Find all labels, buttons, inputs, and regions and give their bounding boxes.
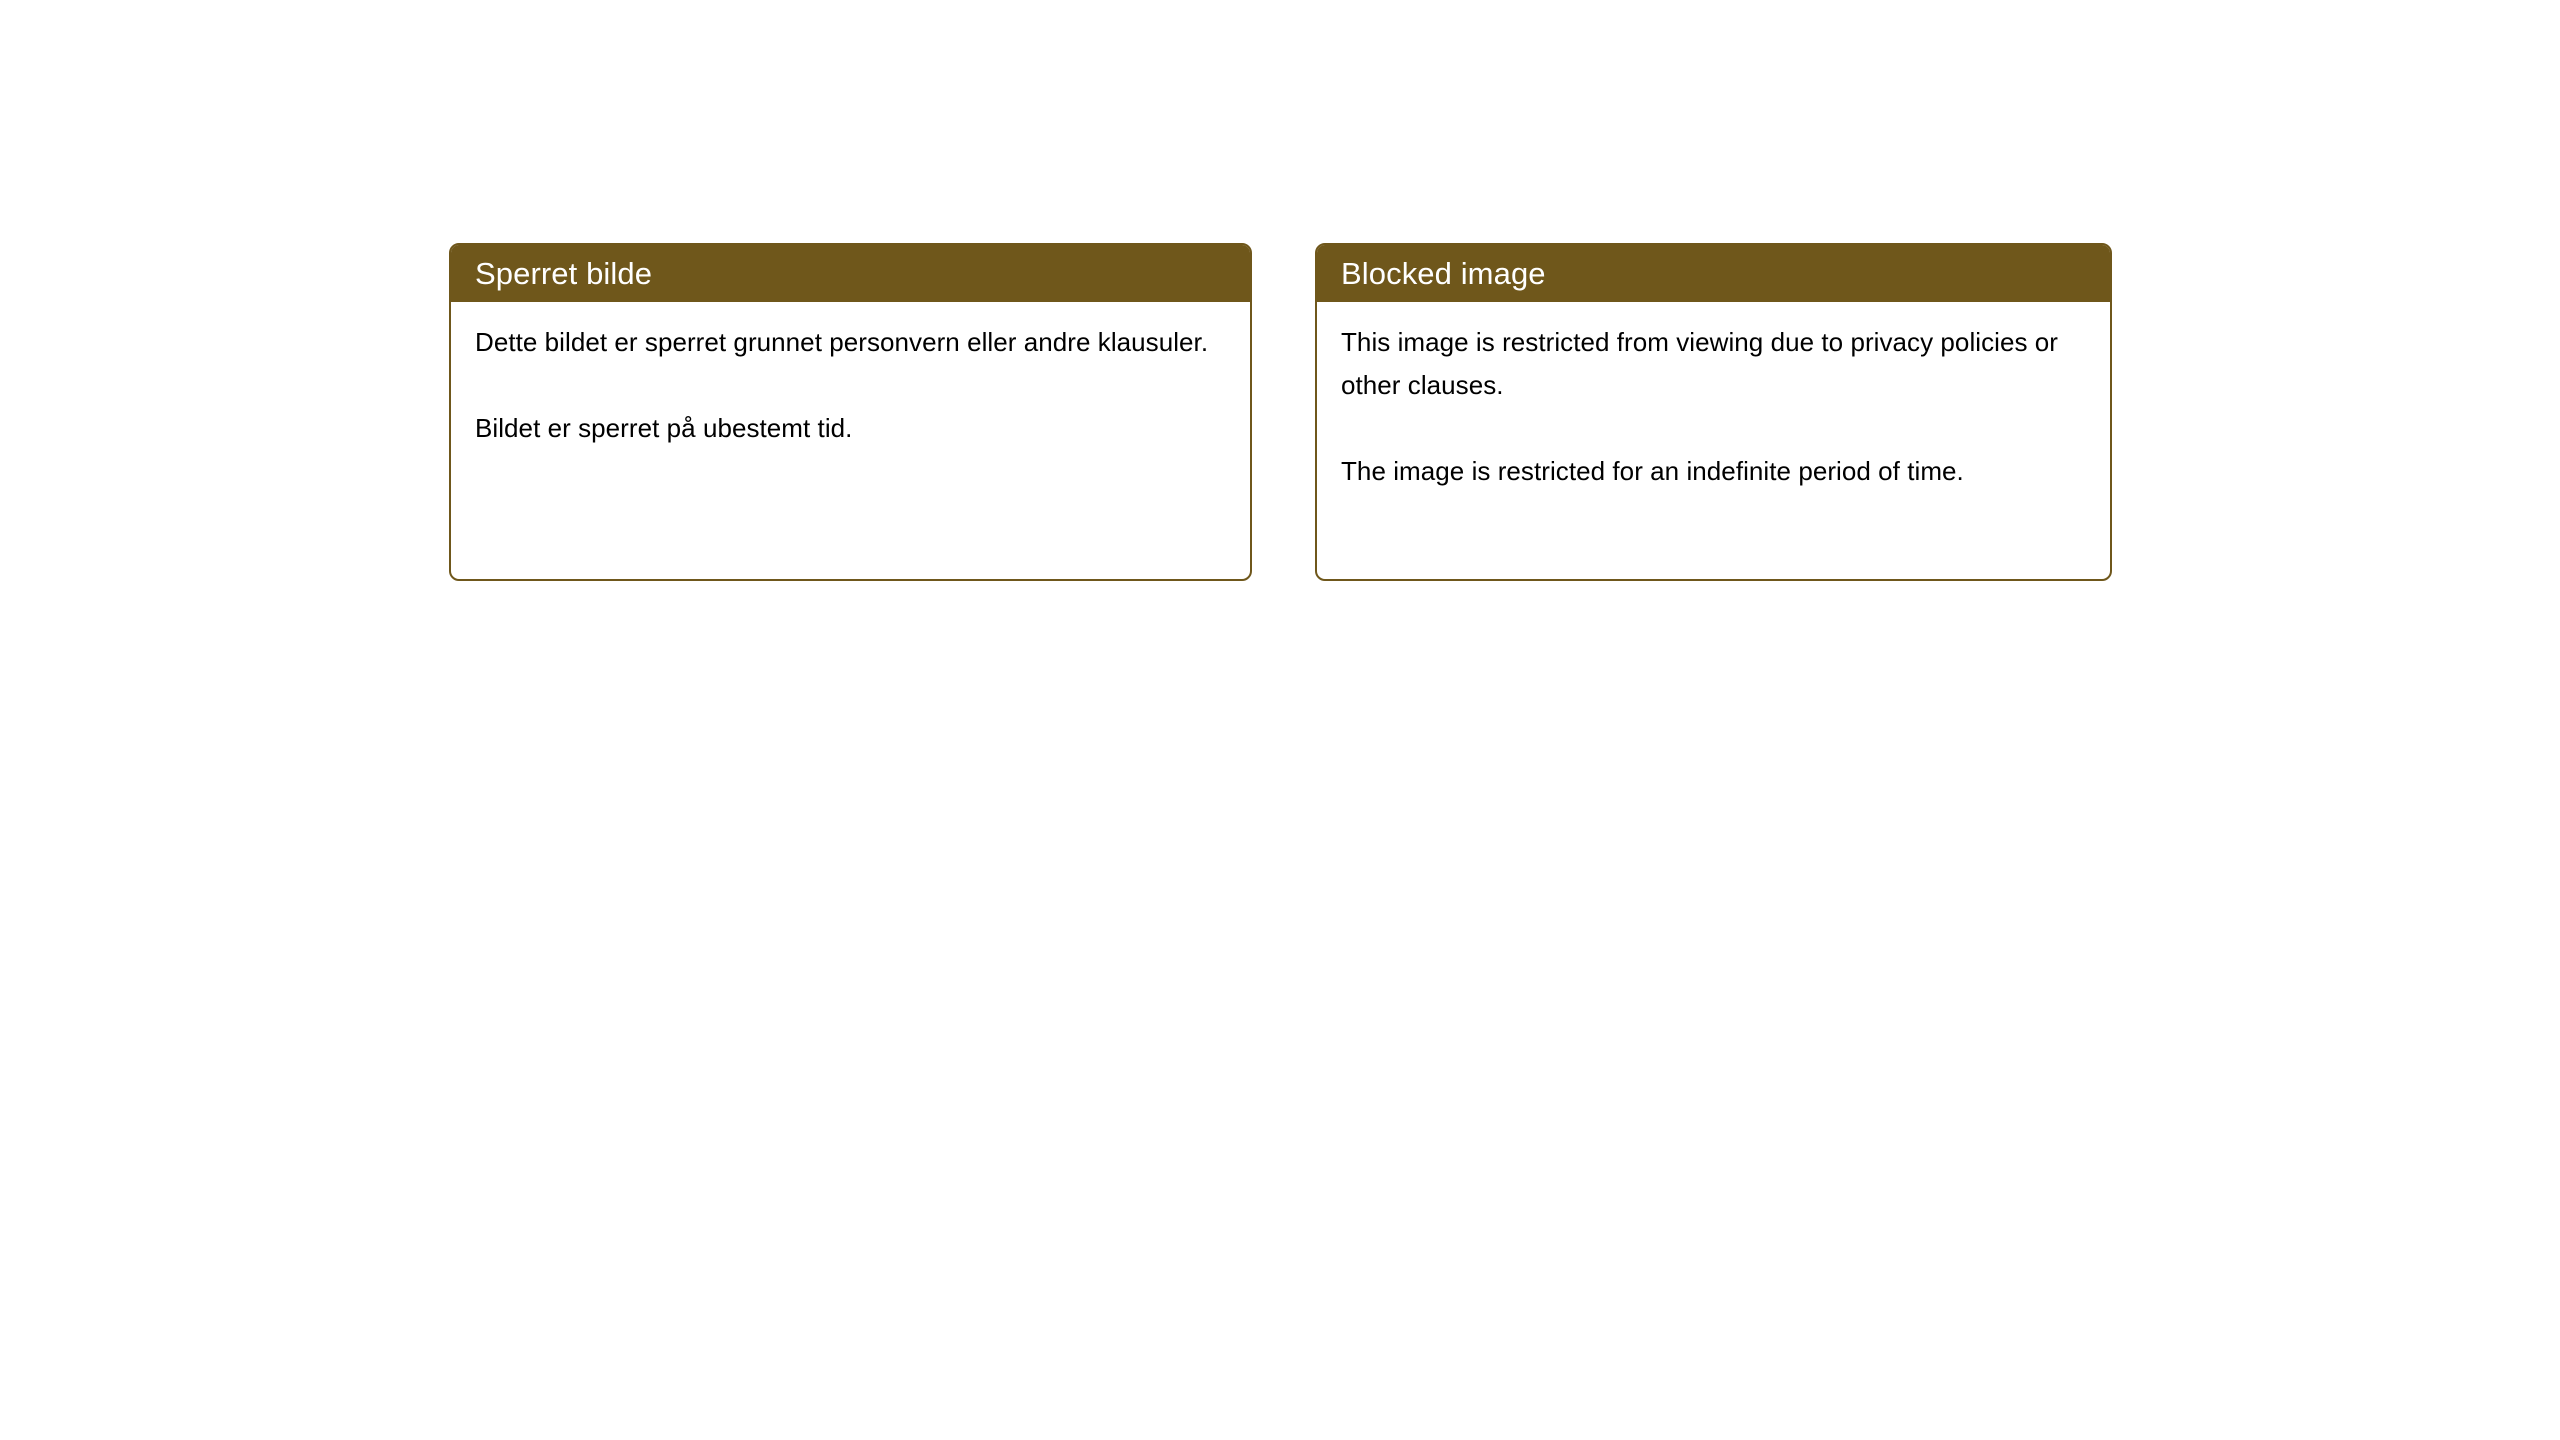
blocked-image-card-norwegian: Sperret bilde Dette bildet er sperret gr… [449,243,1252,581]
card-title-norwegian: Sperret bilde [451,245,1250,302]
card-paragraph-norwegian-1: Dette bildet er sperret grunnet personve… [475,321,1226,364]
card-paragraph-norwegian-2: Bildet er sperret på ubestemt tid. [475,407,1226,450]
blocked-image-card-english: Blocked image This image is restricted f… [1315,243,2112,581]
card-body-english: This image is restricted from viewing du… [1317,302,2110,579]
card-body-norwegian: Dette bildet er sperret grunnet personve… [451,302,1250,579]
blocked-image-notice-area: Sperret bilde Dette bildet er sperret gr… [449,243,2112,581]
card-title-english: Blocked image [1317,245,2110,302]
card-paragraph-english-1: This image is restricted from viewing du… [1341,321,2086,407]
card-paragraph-english-2: The image is restricted for an indefinit… [1341,450,2086,493]
